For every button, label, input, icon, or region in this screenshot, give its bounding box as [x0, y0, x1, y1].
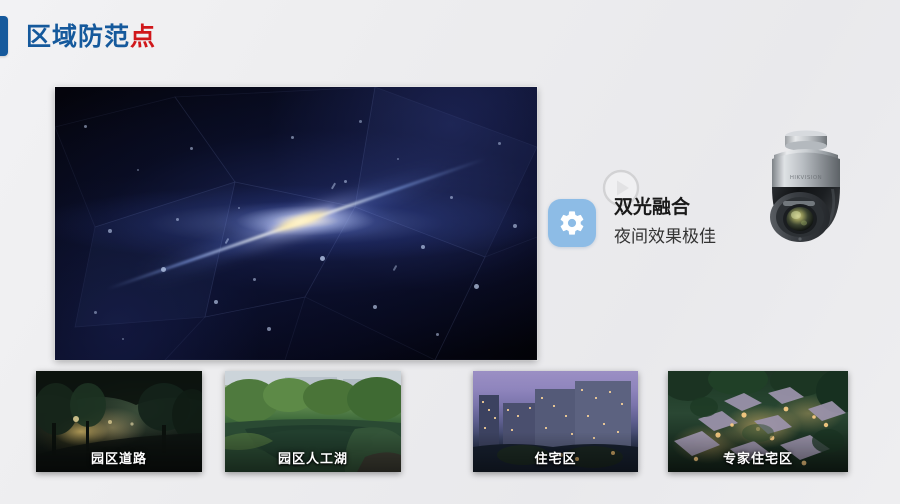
main-video-player[interactable]: [55, 87, 537, 360]
thumbnail-caption: 园区人工湖: [225, 448, 401, 467]
thumbnail-residential-area[interactable]: 住宅区: [473, 371, 638, 472]
feature-title: 双光融合: [614, 196, 716, 220]
feature-text: 双光融合 夜间效果极佳: [614, 196, 716, 250]
thumbnail-expert-residential-area[interactable]: 专家住宅区: [668, 371, 848, 472]
thumbnail-campus-road[interactable]: 园区道路: [36, 371, 202, 472]
page-title-primary: 区域防范: [26, 22, 130, 51]
hikvision-ptz-camera-image: HIKVISION: [752, 115, 860, 263]
camera-brand-label: HIKVISION: [790, 175, 822, 181]
thumbnail-campus-lake[interactable]: 园区人工湖: [225, 371, 401, 472]
slide-root: 区域防范点: [0, 0, 900, 504]
feature-block: 双光融合 夜间效果极佳: [548, 196, 716, 250]
page-header: 区域防范点: [0, 16, 156, 56]
gear-icon: [558, 209, 586, 237]
page-title: 区域防范点: [26, 24, 156, 49]
thumbnail-caption: 专家住宅区: [668, 448, 848, 467]
thumbnail-caption: 住宅区: [473, 448, 638, 467]
header-accent-bar: [0, 16, 8, 56]
thumbnail-caption: 园区道路: [36, 448, 202, 467]
page-title-accent: 点: [130, 22, 156, 51]
feature-subtitle: 夜间效果极佳: [614, 225, 716, 251]
gear-icon-container[interactable]: [548, 199, 596, 247]
video-particles: [55, 87, 537, 360]
